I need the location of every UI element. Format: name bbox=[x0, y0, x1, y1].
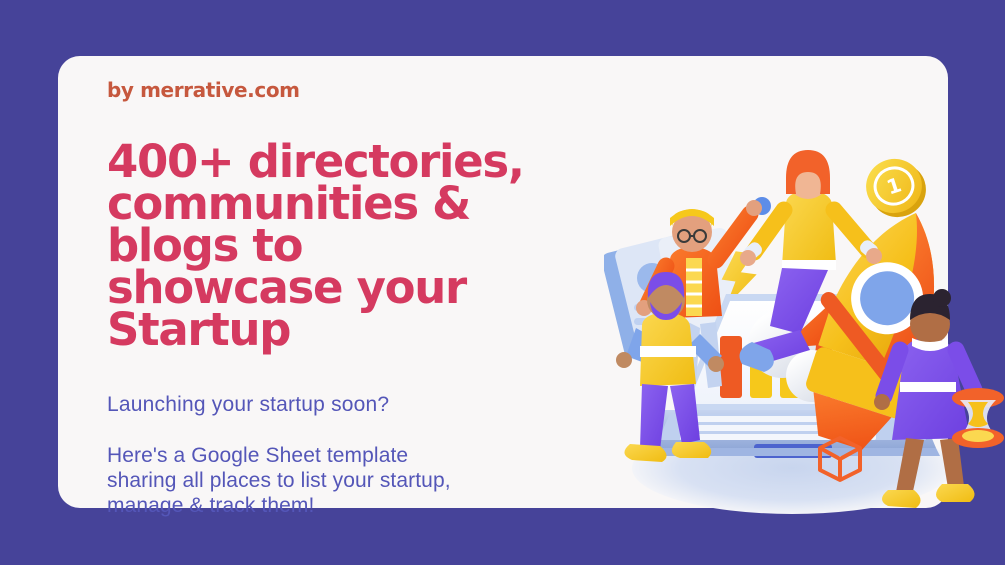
text-column: by merrative.com 400+ directories, commu… bbox=[107, 76, 577, 518]
startup-launch-illustration: 1 bbox=[604, 148, 1004, 538]
page-title: 400+ directories, communities & blogs to… bbox=[107, 141, 547, 351]
slide-canvas: by merrative.com 400+ directories, commu… bbox=[0, 0, 1005, 565]
subheading-question: Launching your startup soon? bbox=[107, 391, 577, 418]
subheading-description: Here's a Google Sheet template sharing a… bbox=[107, 443, 457, 518]
content-card: by merrative.com 400+ directories, commu… bbox=[58, 56, 948, 508]
coin: 1 bbox=[859, 152, 933, 225]
brand-label: by merrative.com bbox=[107, 76, 577, 104]
